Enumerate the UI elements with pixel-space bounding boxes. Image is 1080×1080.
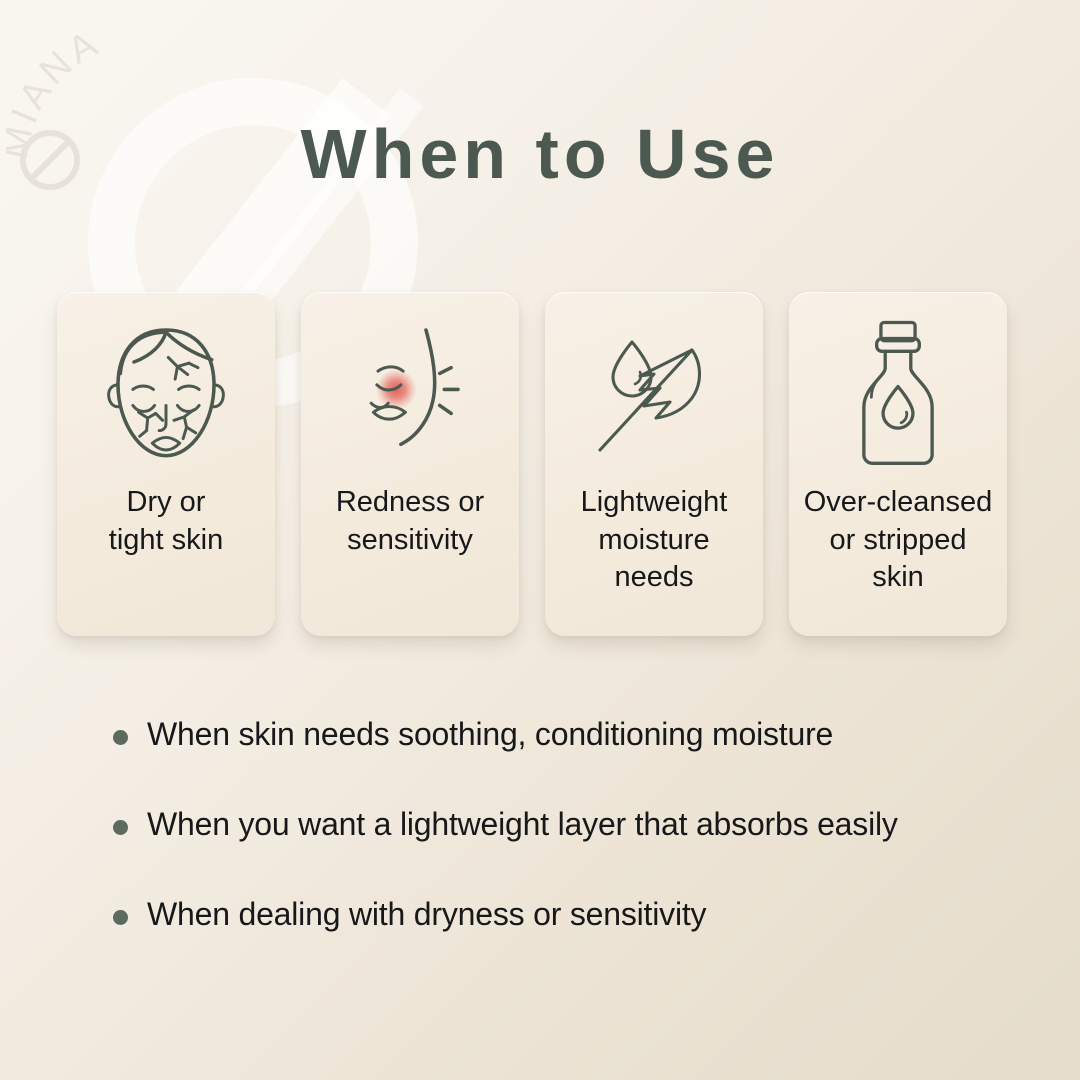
bottle-droplet-icon [828, 314, 968, 474]
card-label: Dry or tight skin [57, 484, 275, 559]
card-label: Over-cleansed or stripped skin [789, 484, 1007, 597]
list-item: When you want a lightweight layer that a… [113, 806, 1013, 844]
feather-droplet-icon [584, 314, 724, 474]
card-dry-skin[interactable]: Dry or tight skin [57, 292, 275, 636]
card-label: Lightweight moisture needs [545, 484, 763, 597]
red-irritated-face-icon [340, 314, 480, 474]
card-redness-sensitivity[interactable]: Redness or sensitivity [301, 292, 519, 636]
bullet-text: When dealing with dryness or sensitivity [147, 896, 706, 934]
card-label: Redness or sensitivity [301, 484, 519, 559]
list-item: When skin needs soothing, conditioning m… [113, 716, 1013, 754]
page-title: When to Use [0, 118, 1080, 192]
bullet-dot-icon [113, 730, 128, 745]
dry-face-icon [96, 314, 236, 474]
bullet-dot-icon [113, 820, 128, 835]
bullet-list: When skin needs soothing, conditioning m… [113, 716, 1013, 985]
card-lightweight-moisture[interactable]: Lightweight moisture needs [545, 292, 763, 636]
infographic-poster: MIANA When to Use [0, 0, 1080, 1080]
card-over-cleansed-skin[interactable]: Over-cleansed or stripped skin [789, 292, 1007, 636]
bullet-dot-icon [113, 910, 128, 925]
bullet-text: When skin needs soothing, conditioning m… [147, 716, 833, 754]
list-item: When dealing with dryness or sensitivity [113, 896, 1013, 934]
bullet-text: When you want a lightweight layer that a… [147, 806, 898, 844]
card-row: Dry or tight skin [57, 292, 1023, 636]
